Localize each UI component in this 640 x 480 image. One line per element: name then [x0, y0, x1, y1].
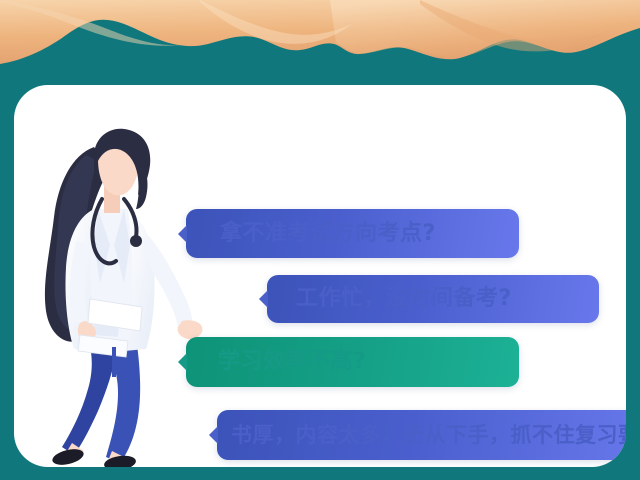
bubble-text: 拿不准考试方向考点?	[220, 223, 436, 245]
pain-point-bubble-4[interactable]: 书厚，内容太多，无从下手，抓不住复习要点	[217, 410, 626, 460]
poster-canvas: 拿不准考试方向考点? 工作忙，没时间备考? 学习效率不高? 书厚，内容太多，无从…	[0, 0, 640, 480]
bubble-text: 书厚，内容太多，无从下手，抓不住复习要点	[231, 425, 626, 446]
white-content-card: 拿不准考试方向考点? 工作忙，没时间备考? 学习效率不高? 书厚，内容太多，无从…	[14, 85, 626, 467]
pain-point-bubble-2[interactable]: 工作忙，没时间备考?	[267, 275, 599, 323]
bubble-text: 学习效率不高?	[218, 351, 366, 373]
pain-point-bubble-3[interactable]: 学习效率不高?	[186, 337, 519, 387]
pain-point-bubble-1[interactable]: 拿不准考试方向考点?	[186, 209, 519, 258]
fabric-drape-decoration	[0, 0, 640, 72]
doctor-illustration	[24, 125, 204, 467]
bubble-text: 工作忙，没时间备考?	[296, 288, 512, 310]
